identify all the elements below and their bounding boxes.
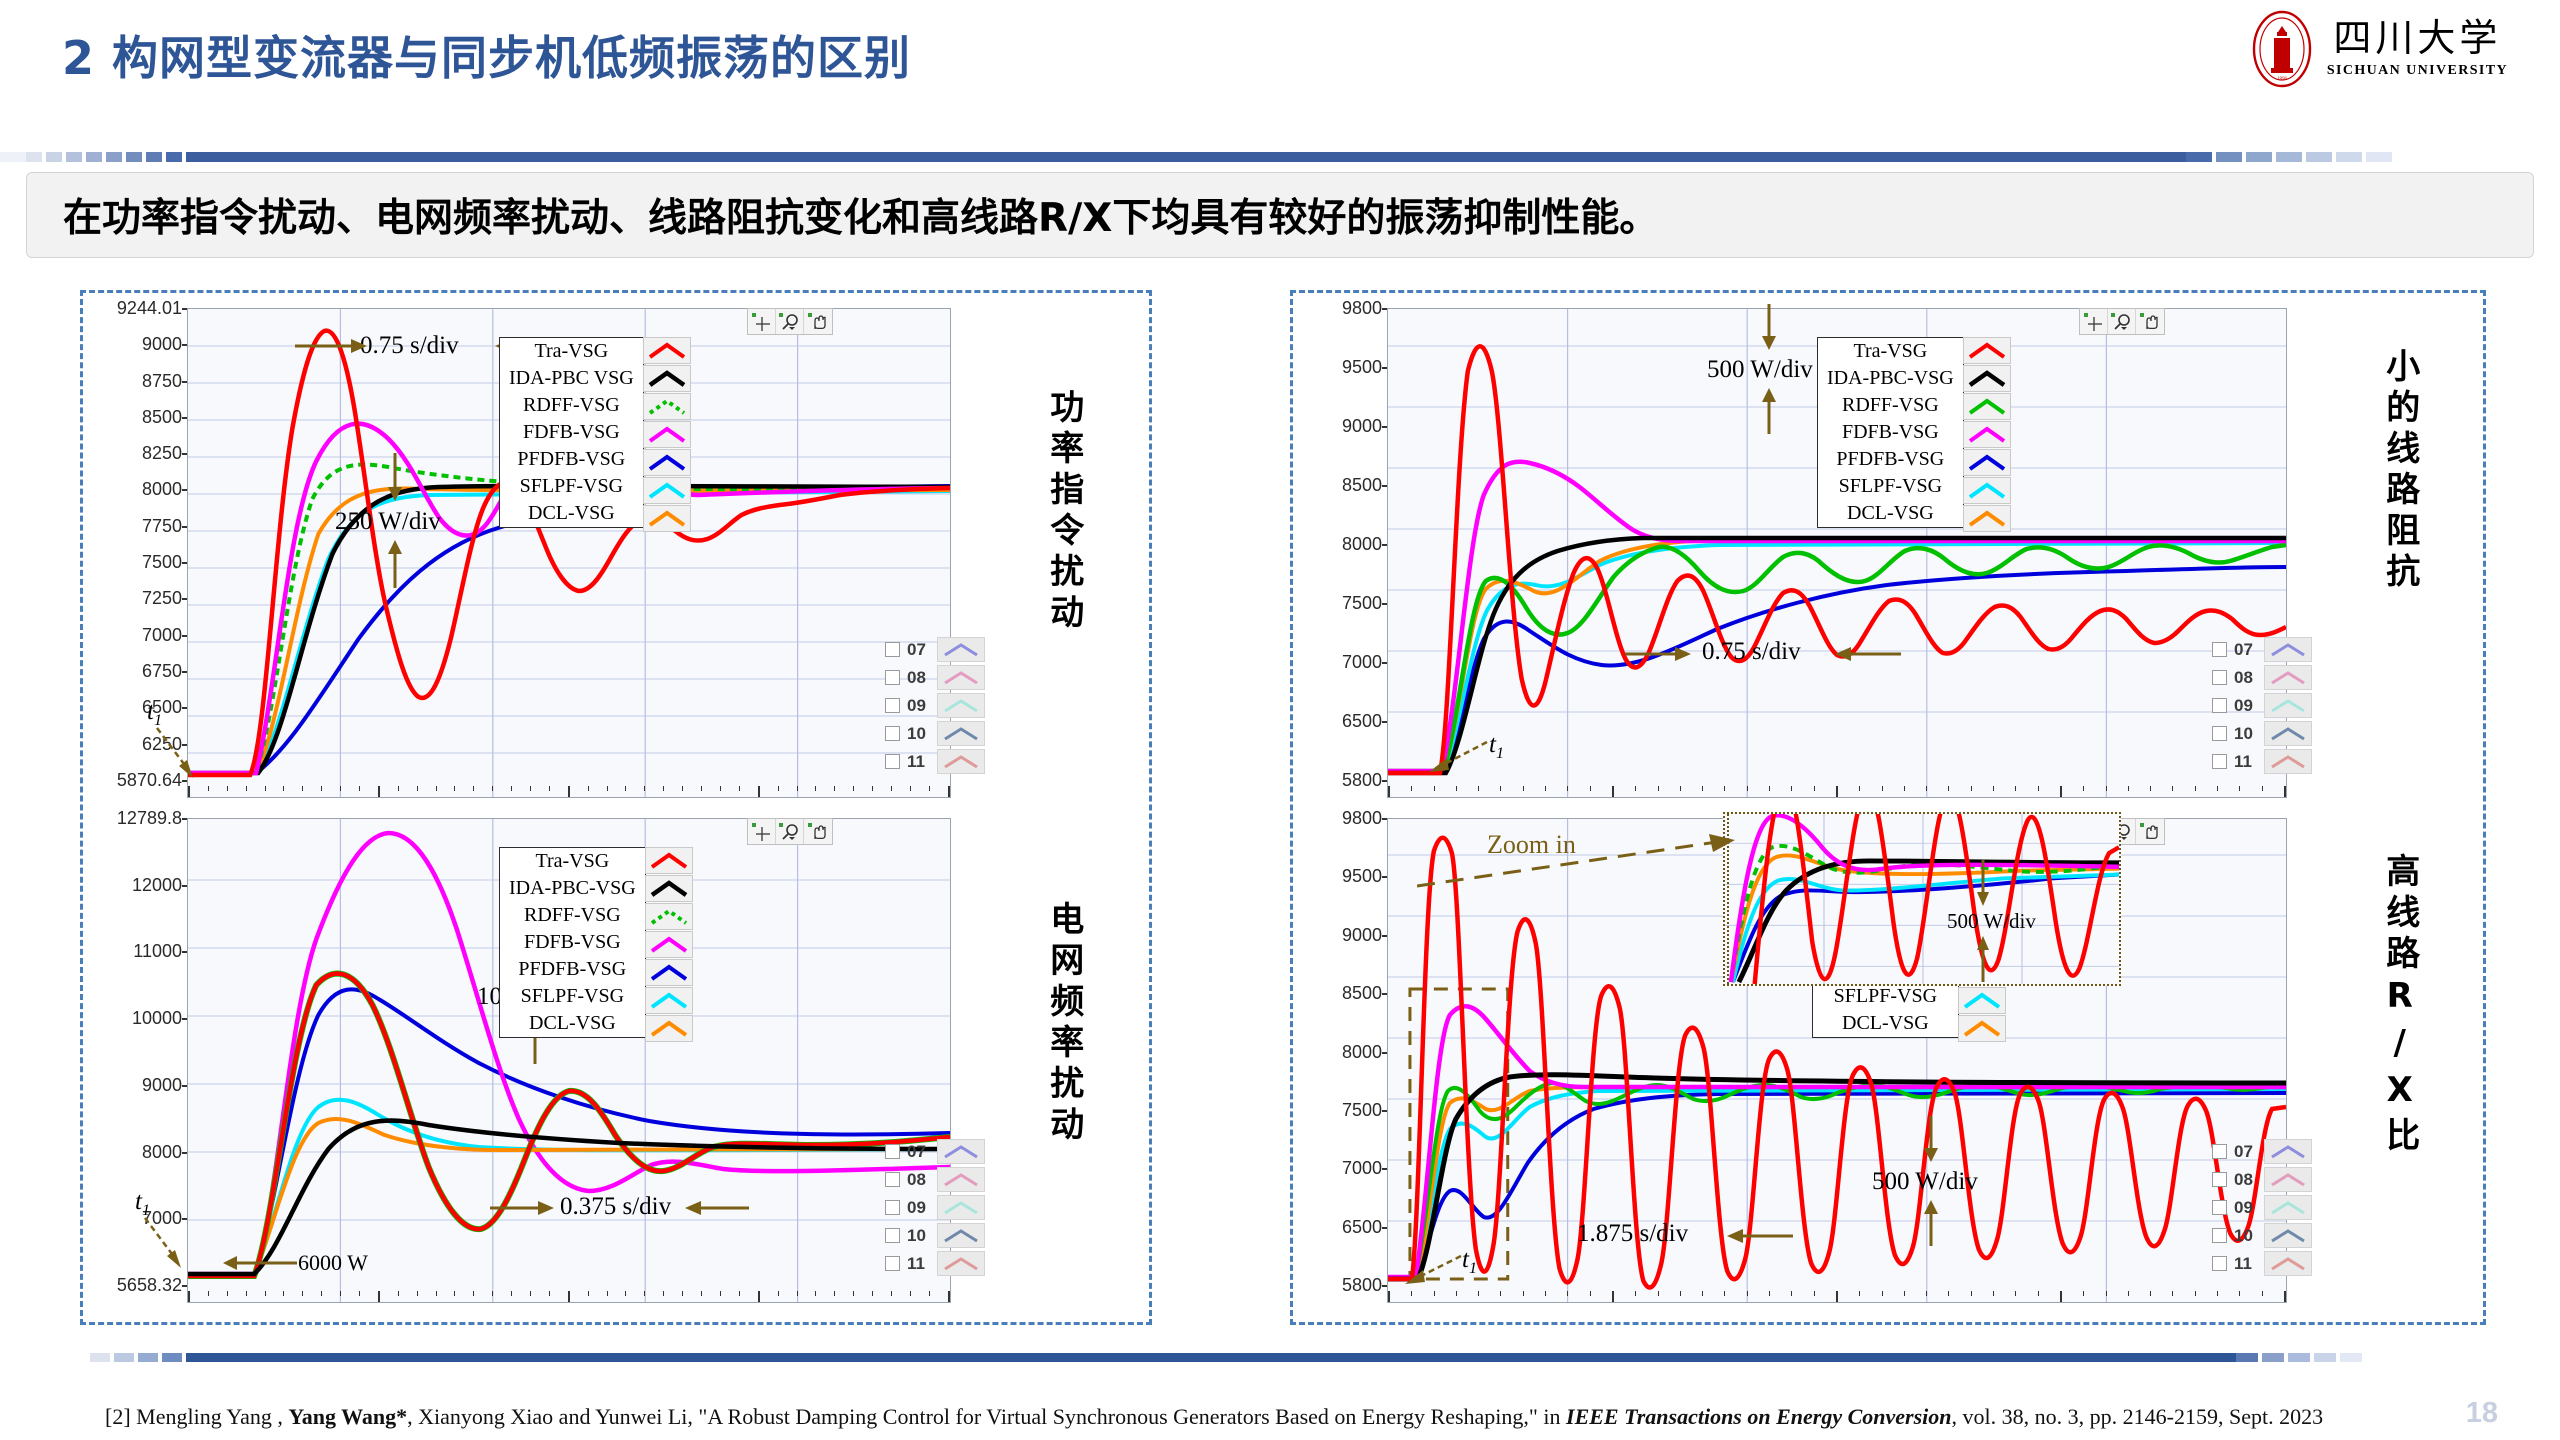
list-item[interactable]: 09 <box>885 692 985 719</box>
arrow-up-icon <box>1759 388 1779 434</box>
list-item[interactable]: 10 <box>2212 720 2312 747</box>
legend-swatch-tra-vsg[interactable] <box>1963 337 2011 364</box>
checkbox-label: 08 <box>907 1170 937 1190</box>
y-tick: 10000 <box>132 1009 187 1027</box>
y-tick: 5800 <box>1342 1276 1387 1294</box>
y-axis-labels-top-left: 9244.01 9000 8750 8500 8250 8000 7750 75… <box>95 308 187 798</box>
chart-top-right[interactable]: 9800 9500 9000 8500 8000 7500 7000 6500 … <box>1307 308 2287 798</box>
legend-item-fdfb-vsg[interactable]: FDFB-VSG <box>500 419 643 446</box>
swatch-11 <box>2264 749 2312 774</box>
series-checkbox-list-top-left[interactable]: 07 08 09 10 11 <box>885 636 985 776</box>
legend-swatch-pfdfb-vsg[interactable] <box>645 959 693 986</box>
y-tick: 8250 <box>142 444 187 462</box>
list-item[interactable]: 07 <box>2212 1138 2312 1165</box>
arrow-down-icon <box>1759 304 1779 350</box>
legend-item-pfdfb-vsg[interactable]: PFDFB-VSG <box>500 446 643 473</box>
x-axis-ticks-top-left <box>188 786 950 798</box>
swatch-10 <box>937 721 985 746</box>
checkbox-label: 10 <box>2234 1226 2264 1246</box>
y-axis-labels-bottom-right: 9800 9500 9000 8500 8000 7500 7000 6500 … <box>1307 818 1387 1303</box>
swatch-10 <box>2264 721 2312 746</box>
side-label-bottom-left: 电网频率扰动 <box>1045 901 1081 1147</box>
swatch-11 <box>937 1251 985 1276</box>
series-checkbox-list-bottom-right[interactable]: 07 08 09 10 11 <box>2212 1138 2312 1278</box>
logo-english-name: SICHUAN UNIVERSITY <box>2327 63 2508 79</box>
list-item[interactable]: 10 <box>885 720 985 747</box>
y-tick: 12000 <box>132 876 187 894</box>
header-divider <box>0 152 2560 162</box>
y-tick: 7250 <box>142 589 187 607</box>
checkbox-label: 07 <box>2234 640 2264 660</box>
arrow-left-icon <box>1835 644 1901 664</box>
scope-toolbar-bottom-left[interactable] <box>747 818 833 845</box>
annotation-t1-bottom-right: t1 <box>1462 1246 1477 1278</box>
swatch-08 <box>937 1167 985 1192</box>
y-tick: 8500 <box>1342 984 1387 1002</box>
annotation-time-per-div-top-left: 0.75 s/div <box>360 332 459 360</box>
checkbox-label: 10 <box>907 1226 937 1246</box>
annotation-inset-power-per-div: 500 W/div <box>1947 909 2036 934</box>
y-tick: 11000 <box>133 942 187 960</box>
y-tick: 9000 <box>142 335 187 353</box>
y-tick: 9800 <box>1342 299 1387 317</box>
svg-text:1896: 1896 <box>2277 77 2288 82</box>
annotation-time-per-div-bottom-right: 1.875 s/div <box>1577 1220 1688 1248</box>
y-tick: 9000 <box>1342 926 1387 944</box>
swatch-07 <box>937 1139 985 1164</box>
checkbox-08[interactable] <box>2212 670 2227 685</box>
list-item[interactable]: 10 <box>2212 1222 2312 1249</box>
arrow-up-icon <box>1921 1200 1941 1246</box>
checkbox-09[interactable] <box>2212 1200 2227 1215</box>
swatch-09 <box>2264 693 2312 718</box>
checkbox-08[interactable] <box>885 1172 900 1187</box>
y-tick: 12789.8 <box>117 809 187 827</box>
right-figure-panel: 9800 9500 9000 8500 8000 7500 7000 6500 … <box>1290 290 2486 1325</box>
y-tick: 8750 <box>142 372 187 390</box>
series-checkbox-list-bottom-left[interactable]: 07 08 09 10 11 <box>885 1138 985 1278</box>
legend-item-ida-pbc-vsg[interactable]: IDA-PBC-VSG <box>500 875 645 902</box>
zoom-icon[interactable] <box>776 309 804 334</box>
checkbox-07[interactable] <box>2212 642 2227 657</box>
annotation-step-amplitude-bottom-left: 6000 W <box>298 1250 368 1276</box>
y-tick: 8000 <box>1342 1043 1387 1061</box>
legend-swatch-rdff-vsg[interactable] <box>643 393 691 420</box>
checkbox-11[interactable] <box>2212 1256 2227 1271</box>
legend-swatch-ida-pbc-vsg[interactable] <box>643 365 691 392</box>
legend-swatch-rdff-vsg[interactable] <box>645 903 693 930</box>
checkbox-07[interactable] <box>885 642 900 657</box>
legend-swatch-fdfb-vsg[interactable] <box>643 421 691 448</box>
arrow-up-icon <box>385 540 405 588</box>
checkbox-08[interactable] <box>885 670 900 685</box>
checkbox-label: 09 <box>2234 1198 2264 1218</box>
legend-swatch-sflpf-vsg[interactable] <box>643 477 691 504</box>
left-figure-panel: 9244.01 9000 8750 8500 8250 8000 7750 75… <box>80 290 1152 1325</box>
y-tick: 9244.01 <box>117 299 187 317</box>
swatch-08 <box>2264 1167 2312 1192</box>
checkbox-label: 11 <box>2234 752 2264 772</box>
swatch-07 <box>2264 637 2312 662</box>
y-tick: 6750 <box>142 662 187 680</box>
zoom-in-leader-arrow-icon <box>1417 832 1757 890</box>
annotation-time-per-div-top-right: 0.75 s/div <box>1702 638 1801 666</box>
legend-item-rdff-vsg[interactable]: RDFF-VSG <box>500 392 643 419</box>
y-tick: 9800 <box>1342 809 1387 827</box>
footer-divider <box>0 1353 2560 1362</box>
swatch-07 <box>937 637 985 662</box>
y-tick: 7750 <box>142 517 187 535</box>
x-axis-ticks-bottom-right <box>1388 1291 2286 1303</box>
y-tick: 5658.32 <box>117 1276 187 1294</box>
t1-pointer-arrow-icon <box>1425 736 1489 774</box>
citation-text: [2] Mengling Yang , Yang Wang*, Xianyong… <box>105 1401 2395 1432</box>
legend-swatch-dcl-vsg[interactable] <box>643 505 691 532</box>
checkbox-label: 08 <box>2234 1170 2264 1190</box>
arrow-left-icon <box>223 1254 297 1272</box>
list-item[interactable]: 09 <box>2212 692 2312 719</box>
y-tick: 8000 <box>142 1143 187 1161</box>
y-tick: 9500 <box>1342 358 1387 376</box>
sichuan-university-seal-icon: 1896 <box>2251 10 2313 88</box>
y-tick: 9000 <box>142 1076 187 1094</box>
checkbox-label: 09 <box>2234 696 2264 716</box>
chart-bottom-right[interactable]: 9800 9500 9000 8500 8000 7500 7000 6500 … <box>1307 818 2287 1303</box>
page-number: 18 <box>2466 1397 2498 1430</box>
t1-pointer-arrow-icon <box>155 726 201 780</box>
crosshair-icon[interactable] <box>748 819 776 844</box>
legend-swatch-sflpf-vsg[interactable] <box>1958 987 2006 1014</box>
checkbox-label: 08 <box>2234 668 2264 688</box>
arrow-right-icon <box>490 1198 554 1218</box>
legend-item-pfdfb-vsg[interactable]: PFDFB-VSG <box>1818 446 1963 473</box>
swatch-07 <box>2264 1139 2312 1164</box>
checkbox-label: 07 <box>2234 1142 2264 1162</box>
y-tick: 7000 <box>142 626 187 644</box>
checkbox-07[interactable] <box>885 1144 900 1159</box>
checkbox-label: 08 <box>907 668 937 688</box>
annotation-t1-top-right: t1 <box>1489 731 1504 763</box>
checkbox-10[interactable] <box>885 726 900 741</box>
series-checkbox-list-top-right[interactable]: 07 08 09 10 11 <box>2212 636 2312 776</box>
checkbox-10[interactable] <box>2212 726 2227 741</box>
citation-journal: IEEE Transactions on Energy Conversion <box>1566 1404 1952 1429</box>
y-tick: 9500 <box>1342 867 1387 885</box>
y-axis-labels-top-right: 9800 9500 9000 8500 8000 7500 7000 6500 … <box>1307 308 1387 798</box>
legend-item-sflpf-vsg[interactable]: SFLPF-VSG <box>500 983 645 1010</box>
side-label-bottom-right: 高线路R/X比 <box>2381 853 2417 1158</box>
legend-swatch-dcl-vsg[interactable] <box>645 1015 693 1042</box>
annotation-time-per-div-bottom-left: 0.375 s/div <box>560 1193 671 1221</box>
list-item[interactable]: 09 <box>2212 1194 2312 1221</box>
annotation-power-per-div-top-left: 250 W/div <box>335 508 441 536</box>
x-axis-ticks-top-right <box>1388 786 2286 798</box>
legend-item-sflpf-vsg[interactable]: SFLPF-VSG <box>500 473 643 500</box>
list-item[interactable]: 11 <box>885 1250 985 1277</box>
list-item[interactable]: 11 <box>2212 1250 2312 1277</box>
checkbox-11[interactable] <box>885 754 900 769</box>
pan-icon[interactable] <box>2136 309 2164 334</box>
list-item[interactable]: 08 <box>2212 664 2312 691</box>
legend-swatch-rdff-vsg[interactable] <box>1963 393 2011 420</box>
arrow-right-icon <box>295 336 367 356</box>
list-item[interactable]: 08 <box>2212 1166 2312 1193</box>
legend-top-right[interactable]: Tra-VSG IDA-PBC-VSG RDFF-VSG FDFB-VSG PF… <box>1817 337 1964 528</box>
legend-item-ida-pbc-vsg[interactable]: IDA-PBC-VSG <box>1818 365 1963 392</box>
y-tick: 5800 <box>1342 771 1387 789</box>
citation-part-2: , Xianyong Xiao and Yunwei Li, "A Robust… <box>407 1404 1566 1429</box>
swatch-09 <box>937 693 985 718</box>
legend-swatch-sflpf-vsg[interactable] <box>645 987 693 1014</box>
checkbox-08[interactable] <box>2212 1172 2227 1187</box>
list-item[interactable]: 07 <box>2212 636 2312 663</box>
list-item[interactable]: 11 <box>885 748 985 775</box>
checkbox-07[interactable] <box>2212 1144 2227 1159</box>
legend-swatch-tra-vsg[interactable] <box>645 847 693 874</box>
y-tick: 7500 <box>142 553 187 571</box>
swatch-09 <box>2264 1195 2312 1220</box>
zoom-icon[interactable] <box>2108 309 2136 334</box>
y-tick: 6500 <box>1342 1218 1387 1236</box>
crosshair-icon[interactable] <box>2080 309 2108 334</box>
annotation-power-per-div-bottom-right: 500 W/div <box>1872 1168 1978 1196</box>
checkbox-label: 10 <box>2234 724 2264 744</box>
checkbox-label: 07 <box>907 1142 937 1162</box>
list-item[interactable]: 09 <box>885 1194 985 1221</box>
y-tick: 6500 <box>1342 712 1387 730</box>
swatch-08 <box>2264 665 2312 690</box>
checkbox-11[interactable] <box>885 1256 900 1271</box>
legend-item-rdff-vsg[interactable]: RDFF-VSG <box>500 902 645 929</box>
annotation-power-per-div-top-right: 500 W/div <box>1707 356 1813 384</box>
legend-item-dcl-vsg[interactable]: DCL-VSG <box>1813 1010 1958 1037</box>
list-item[interactable]: 10 <box>885 1222 985 1249</box>
legend-item-rdff-vsg[interactable]: RDFF-VSG <box>1818 392 1963 419</box>
checkbox-label: 11 <box>2234 1254 2264 1274</box>
x-axis-ticks-bottom-left <box>188 1291 950 1303</box>
y-tick: 9000 <box>1342 417 1387 435</box>
swatch-10 <box>937 1223 985 1248</box>
legend-item-fdfb-vsg[interactable]: FDFB-VSG <box>1818 419 1963 446</box>
scope-toolbar-top-left[interactable] <box>747 308 833 335</box>
chart-bottom-left[interactable]: 12789.8 12000 11000 10000 9000 8000 7000… <box>95 818 951 1303</box>
side-label-top-right: 小的线路阻抗 <box>2381 348 2417 594</box>
zoom-inset-bottom-right[interactable]: 500 W/div <box>1723 812 2121 986</box>
legend-item-pfdfb-vsg[interactable]: PFDFB-VSG <box>500 956 645 983</box>
y-tick: 7500 <box>1342 1101 1387 1119</box>
legend-swatch-ida-pbc-vsg[interactable] <box>645 875 693 902</box>
y-tick: 8000 <box>1342 535 1387 553</box>
arrow-down-icon <box>385 453 405 501</box>
arrow-down-icon <box>1975 860 1991 906</box>
citation-author-bold: Yang Wang* <box>288 1404 407 1429</box>
legend-top-left[interactable]: Tra-VSG IDA-PBC VSG RDFF-VSG FDFB-VSG PF… <box>499 337 644 528</box>
y-tick: 8000 <box>142 480 187 498</box>
checkbox-10[interactable] <box>2212 1228 2227 1243</box>
legend-item-dcl-vsg[interactable]: DCL-VSG <box>500 1010 645 1037</box>
key-message-banner: 在功率指令扰动、电网频率扰动、线路阻抗变化和高线路R/X下均具有较好的振荡抑制性… <box>26 172 2534 258</box>
list-item[interactable]: 07 <box>885 1138 985 1165</box>
checkbox-09[interactable] <box>885 1200 900 1215</box>
checkbox-label: 07 <box>907 640 937 660</box>
citation-part-1: [2] Mengling Yang , <box>105 1404 288 1429</box>
legend-swatch-pfdfb-vsg[interactable] <box>1963 449 2011 476</box>
swatch-10 <box>2264 1223 2312 1248</box>
swatch-11 <box>2264 1251 2312 1276</box>
legend-item-tra-vsg[interactable]: Tra-VSG <box>500 338 643 365</box>
legend-swatch-dcl-vsg[interactable] <box>1958 1015 2006 1042</box>
swatch-08 <box>937 665 985 690</box>
university-logo: 1896 四川大学 SICHUAN UNIVERSITY <box>2251 10 2508 88</box>
arrow-up-icon <box>1975 936 1991 982</box>
key-message-text: 在功率指令扰动、电网频率扰动、线路阻抗变化和高线路R/X下均具有较好的振荡抑制性… <box>63 187 1658 243</box>
t1-pointer-arrow-icon <box>1401 1250 1463 1286</box>
legend-swatch-sflpf-vsg[interactable] <box>1963 477 2011 504</box>
chart-top-left[interactable]: 9244.01 9000 8750 8500 8250 8000 7750 75… <box>95 308 951 798</box>
legend-item-ida-pbc-vsg[interactable]: IDA-PBC VSG <box>500 365 643 392</box>
legend-swatch-ida-pbc-vsg[interactable] <box>1963 365 2011 392</box>
legend-item-dcl-vsg[interactable]: DCL-VSG <box>500 500 643 527</box>
legend-item-sflpf-vsg[interactable]: SFLPF-VSG <box>1813 983 1958 1010</box>
checkbox-09[interactable] <box>2212 698 2227 713</box>
list-item[interactable]: 11 <box>2212 748 2312 775</box>
legend-item-sflpf-vsg[interactable]: SFLPF-VSG <box>1818 473 1963 500</box>
swatch-09 <box>937 1195 985 1220</box>
checkbox-label: 09 <box>907 1198 937 1218</box>
y-tick: 7000 <box>1342 1159 1387 1177</box>
pan-icon[interactable] <box>804 819 832 844</box>
legend-item-tra-vsg[interactable]: Tra-VSG <box>1818 338 1963 365</box>
legend-swatch-fdfb-vsg[interactable] <box>1963 421 2011 448</box>
legend-item-tra-vsg[interactable]: Tra-VSG <box>500 848 645 875</box>
pan-icon[interactable] <box>2136 819 2164 844</box>
arrow-left-icon <box>1727 1226 1793 1246</box>
t1-pointer-arrow-icon <box>143 1216 189 1270</box>
zoom-icon[interactable] <box>776 819 804 844</box>
scope-toolbar-top-right[interactable] <box>2079 308 2165 335</box>
legend-swatch-pfdfb-vsg[interactable] <box>643 449 691 476</box>
arrow-left-icon <box>685 1198 749 1218</box>
pan-icon[interactable] <box>804 309 832 334</box>
side-label-top-left: 功率指令扰动 <box>1045 389 1081 635</box>
list-item[interactable]: 07 <box>885 636 985 663</box>
checkbox-09[interactable] <box>885 698 900 713</box>
y-tick: 7000 <box>1342 653 1387 671</box>
legend-bottom-left[interactable]: Tra-VSG IDA-PBC-VSG RDFF-VSG FDFB-VSG PF… <box>499 847 646 1038</box>
checkbox-11[interactable] <box>2212 754 2227 769</box>
logo-chinese-name: 四川大学 <box>2333 19 2501 57</box>
legend-swatch-dcl-vsg[interactable] <box>1963 505 2011 532</box>
arrow-down-icon <box>1921 1116 1941 1162</box>
list-item[interactable]: 08 <box>885 664 985 691</box>
y-tick: 8500 <box>1342 476 1387 494</box>
legend-swatch-tra-vsg[interactable] <box>643 337 691 364</box>
checkbox-label: 10 <box>907 724 937 744</box>
y-tick: 8500 <box>142 408 187 426</box>
y-tick: 7500 <box>1342 594 1387 612</box>
crosshair-icon[interactable] <box>748 309 776 334</box>
legend-item-dcl-vsg[interactable]: DCL-VSG <box>1818 500 1963 527</box>
page-title: 2 构网型变流器与同步机低频振荡的区别 <box>62 22 911 88</box>
arrow-right-icon <box>1625 644 1691 664</box>
checkbox-label: 09 <box>907 696 937 716</box>
swatch-11 <box>937 749 985 774</box>
legend-item-fdfb-vsg[interactable]: FDFB-VSG <box>500 929 645 956</box>
citation-part-3: , vol. 38, no. 3, pp. 2146-2159, Sept. 2… <box>1952 1404 2324 1429</box>
list-item[interactable]: 08 <box>885 1166 985 1193</box>
legend-swatch-fdfb-vsg[interactable] <box>645 931 693 958</box>
checkbox-label: 11 <box>907 752 937 772</box>
checkbox-label: 11 <box>907 1254 937 1274</box>
checkbox-10[interactable] <box>885 1228 900 1243</box>
